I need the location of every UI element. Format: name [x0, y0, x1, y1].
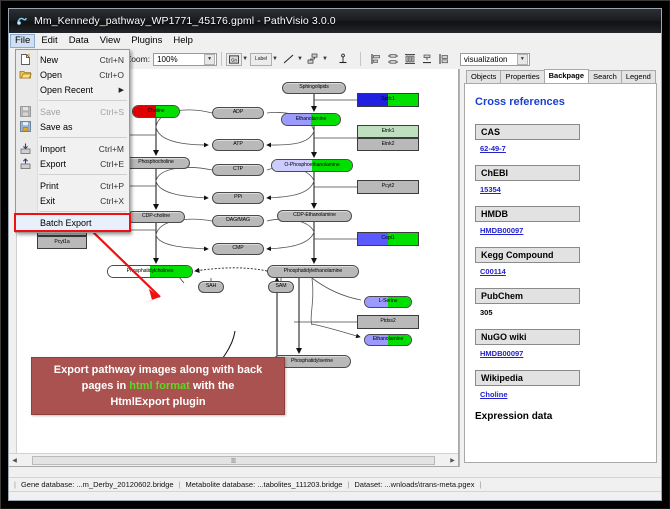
tab-backpage[interactable]: Backpage	[544, 69, 589, 83]
menu-item-view[interactable]: View	[95, 34, 125, 48]
file-menu-item-print[interactable]: PrintCtrl+P	[16, 178, 129, 193]
xref-value-row[interactable]: 15354	[480, 185, 646, 194]
label-dropdown-icon[interactable]: ▼	[272, 56, 278, 62]
window-title: Mm_Kennedy_pathway_WP1771_45176.gpml - P…	[34, 15, 336, 27]
menu-separator	[39, 137, 127, 138]
xref-source-kegg-compound: Kegg Compound	[475, 247, 580, 263]
pathvisio-application-window: Mm_Kennedy_pathway_WP1771_45176.gpml - P…	[8, 8, 662, 501]
menu-item-accelerator: Ctrl+P	[100, 181, 129, 191]
menu-item-plugins[interactable]: Plugins	[126, 34, 167, 48]
distribute-icon[interactable]	[403, 52, 418, 67]
menu-item-label: Import	[40, 144, 99, 154]
xref-value-row[interactable]: HMDB00097	[480, 226, 646, 235]
backpage-panel: Cross references CAS62-49-7ChEBI15354HMD…	[465, 84, 656, 462]
chevron-down-icon[interactable]: ▼	[517, 54, 528, 65]
pathvisio-app-icon	[16, 15, 28, 27]
xref-source-wikipedia: Wikipedia	[475, 370, 580, 386]
file-menu-item-open-recent[interactable]: Open Recent▶	[16, 82, 129, 97]
file-menu-item-open[interactable]: OpenCtrl+O	[16, 67, 129, 82]
status-bar: |Gene database: ...m_Derby_20120602.brid…	[9, 467, 661, 500]
menu-item-accelerator: Ctrl+E	[100, 159, 129, 169]
save-disk-icon	[19, 105, 32, 118]
group-icon[interactable]	[437, 52, 452, 67]
menu-item-label: Open Recent	[40, 85, 119, 95]
stack-icon[interactable]	[420, 52, 435, 67]
label-tool-button[interactable]: Label	[250, 53, 272, 66]
cross-reference-list: CAS62-49-7ChEBI15354HMDBHMDB00097Kegg Co…	[475, 124, 646, 399]
visualization-combobox[interactable]: visualization ▼	[460, 53, 530, 66]
menu-item-label: Batch Export	[40, 218, 129, 228]
menu-item-label: New	[40, 55, 100, 65]
menu-item-label: Exit	[40, 196, 100, 206]
xref-source-pubchem: PubChem	[475, 288, 580, 304]
svg-text:Gn: Gn	[231, 57, 236, 62]
datanode-dropdown-icon[interactable]: ▼	[242, 56, 248, 62]
toolbar-separator	[221, 52, 222, 66]
menu-separator	[39, 211, 127, 212]
folder-open-icon	[19, 68, 32, 81]
line-dropdown-icon[interactable]: ▼	[297, 56, 303, 62]
status-segment-2: Dataset: ...wnloads\trans-meta.pgex	[354, 480, 474, 489]
xref-link[interactable]: HMDB00097	[480, 226, 523, 235]
xref-value-row[interactable]: 62-49-7	[480, 144, 646, 153]
menu-item-edit[interactable]: Edit	[36, 34, 62, 48]
file-menu-item-import[interactable]: ImportCtrl+M	[16, 141, 129, 156]
xref-value-row[interactable]: Choline	[480, 390, 646, 399]
side-panel-content: Cross references CAS62-49-7ChEBI15354HMD…	[464, 83, 657, 463]
menu-separator	[39, 174, 127, 175]
xref-source-chebi: ChEBI	[475, 165, 580, 181]
interaction-dropdown-icon[interactable]: ▼	[322, 56, 328, 62]
tab-properties[interactable]: Properties	[500, 70, 544, 83]
submenu-arrow-icon: ▶	[119, 86, 129, 94]
file-menu-item-save[interactable]: SaveCtrl+S	[16, 104, 129, 119]
annotation-callout: Export pathway images along with back pa…	[31, 357, 285, 415]
align-center-icon[interactable]	[386, 52, 401, 67]
file-menu-item-new[interactable]: NewCtrl+N	[16, 52, 129, 67]
xref-link[interactable]: Choline	[480, 390, 508, 399]
menu-item-label: Save	[40, 107, 100, 117]
scroll-left-arrow[interactable]: ◀	[9, 457, 20, 464]
menu-item-label: Export	[40, 159, 100, 169]
callout-highlight: html format	[129, 380, 190, 392]
visualization-value: visualization	[464, 55, 508, 64]
desktop-backdrop: Mm_Kennedy_pathway_WP1771_45176.gpml - P…	[0, 0, 670, 509]
menu-item-label: Print	[40, 181, 100, 191]
datanode-tool-button[interactable]: Gn	[226, 53, 242, 66]
file-menu-item-batch-export[interactable]: Batch Export	[16, 215, 129, 230]
xref-link[interactable]: 62-49-7	[480, 144, 506, 153]
chevron-down-icon[interactable]: ▼	[204, 54, 215, 65]
title-bar: Mm_Kennedy_pathway_WP1771_45176.gpml - P…	[9, 9, 661, 33]
xref-source-nugo-wiki: NuGO wiki	[475, 329, 580, 345]
xref-link[interactable]: 15354	[480, 185, 501, 194]
toolbar-separator	[360, 52, 361, 66]
zoom-value: 100%	[157, 55, 177, 64]
xref-source-cas: CAS	[475, 124, 580, 140]
interaction-tool-icon[interactable]	[306, 52, 321, 67]
menu-item-help[interactable]: Help	[168, 34, 198, 48]
file-menu-popup[interactable]: NewCtrl+NOpenCtrl+OOpen Recent▶SaveCtrl+…	[15, 49, 130, 233]
side-panel: ObjectsPropertiesBackpageSearchLegend Cr…	[459, 69, 661, 467]
anchor-tool-icon[interactable]	[336, 52, 351, 67]
callout-line-2: pages in html format with the	[82, 378, 235, 394]
canvas-horizontal-scrollbar[interactable]: ◀ ▥ ▶	[9, 453, 458, 466]
status-segment-1: Metabolite database: ...tabolites_111203…	[186, 480, 343, 489]
xref-value-row[interactable]: HMDB00097	[480, 349, 646, 358]
expression-data-heading: Expression data	[475, 411, 646, 422]
backpage-title: Cross references	[475, 96, 646, 108]
status-divider: |	[179, 480, 181, 489]
export-icon	[19, 157, 32, 170]
file-menu-item-exit[interactable]: ExitCtrl+X	[16, 193, 129, 208]
menu-item-accelerator: Ctrl+O	[99, 70, 129, 80]
align-left-icon[interactable]	[369, 52, 384, 67]
status-segment-0: Gene database: ...m_Derby_20120602.bridg…	[21, 480, 174, 489]
scroll-right-arrow[interactable]: ▶	[447, 457, 458, 464]
menu-item-accelerator: Ctrl+N	[100, 55, 129, 65]
import-icon	[19, 142, 32, 155]
xref-link[interactable]: HMDB00097	[480, 349, 523, 358]
scrollbar-thumb[interactable]: ▥	[32, 456, 435, 465]
xref-value-row[interactable]: C00114	[480, 267, 646, 276]
status-bar-text: |Gene database: ...m_Derby_20120602.brid…	[9, 477, 661, 492]
menu-item-file[interactable]: File	[10, 34, 35, 48]
xref-link[interactable]: C00114	[480, 267, 506, 276]
menu-item-label: Save as	[40, 122, 129, 132]
menu-item-label: Open	[40, 70, 99, 80]
menu-separator	[39, 100, 127, 101]
menu-item-data[interactable]: Data	[64, 34, 94, 48]
menu-item-accelerator: Ctrl+M	[99, 144, 129, 154]
tab-legend[interactable]: Legend	[621, 70, 656, 83]
status-divider: |	[347, 480, 349, 489]
label-tool-label: Label	[255, 56, 267, 62]
tab-search[interactable]: Search	[588, 70, 622, 83]
callout-line-3: HtmlExport plugin	[110, 394, 205, 410]
callout-line-1: Export pathway images along with back	[54, 362, 262, 378]
save-as-icon	[19, 120, 32, 133]
status-divider: |	[479, 480, 481, 489]
menu-item-accelerator: Ctrl+S	[100, 107, 129, 117]
line-tool-icon[interactable]	[281, 52, 296, 67]
zoom-combobox[interactable]: 100% ▼	[153, 53, 217, 66]
xref-source-hmdb: HMDB	[475, 206, 580, 222]
menu-item-accelerator: Ctrl+X	[100, 196, 129, 206]
tab-objects[interactable]: Objects	[466, 70, 501, 83]
file-menu-item-save-as[interactable]: Save as	[16, 119, 129, 134]
file-menu-item-export[interactable]: ExportCtrl+E	[16, 156, 129, 171]
side-panel-tabs[interactable]: ObjectsPropertiesBackpageSearchLegend	[460, 69, 661, 83]
menu-bar[interactable]: FileEditDataViewPluginsHelp	[9, 33, 661, 50]
xref-value-row: 305	[480, 308, 646, 317]
status-divider: |	[14, 480, 16, 489]
new-document-icon	[19, 53, 32, 66]
